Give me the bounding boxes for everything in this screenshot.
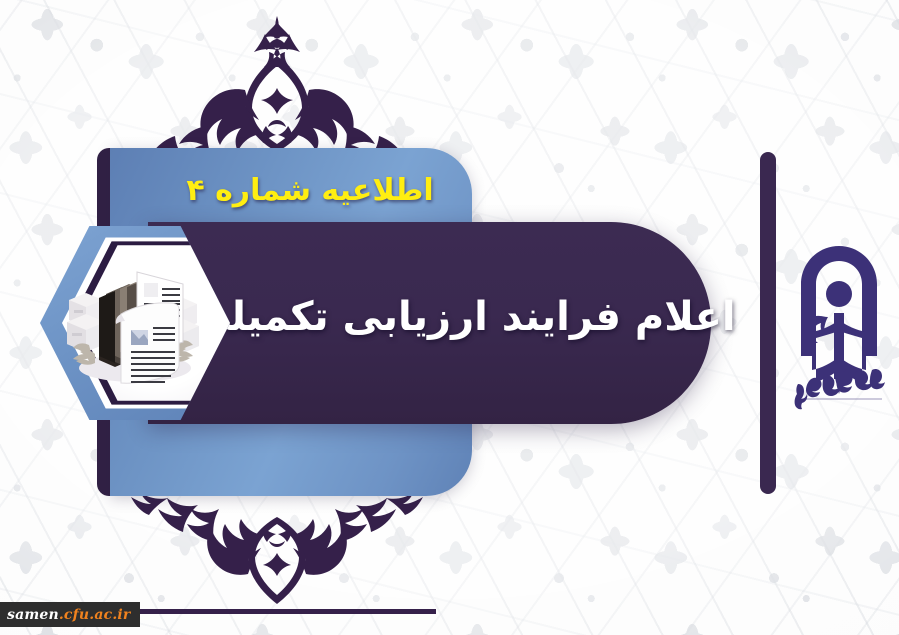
- farhangian-university-logo-icon: [790, 240, 888, 410]
- announcement-banner: اطلاعیه شماره ۴ اعلام فرایند ارزیابی تکم…: [0, 0, 899, 635]
- watermark-domain: .cfu.ac.ir: [59, 607, 131, 623]
- page-title: اعلام فرایند ارزیابی تکمیلی: [228, 276, 698, 358]
- announcement-number: اطلاعیه شماره ۴: [150, 163, 470, 217]
- watermark-name: samen: [7, 607, 59, 623]
- right-accent-bar: [760, 152, 776, 494]
- documents-files-icon: [40, 222, 230, 424]
- site-watermark: samen.cfu.ac.ir: [0, 602, 140, 627]
- hexagon-artwork: [59, 242, 211, 404]
